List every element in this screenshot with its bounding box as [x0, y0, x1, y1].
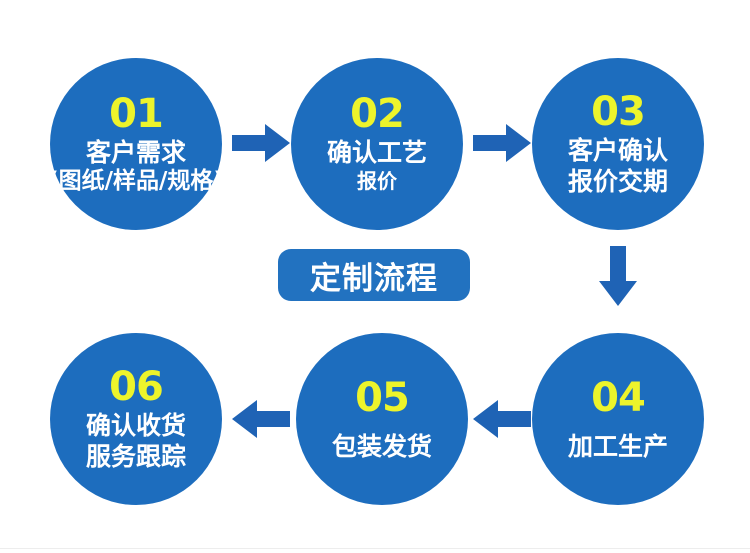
- process-step-01[interactable]: 01 客户需求 (图纸/样品/规格): [50, 58, 222, 230]
- process-step-02[interactable]: 02 确认工艺 报价: [291, 58, 463, 230]
- step-label-line1-04: 加工生产: [568, 432, 668, 461]
- step-number-06: 06: [109, 367, 163, 407]
- flowchart-canvas: 01 客户需求 (图纸/样品/规格) 02 确认工艺 报价 03 客户确认 报价…: [0, 0, 750, 553]
- arrow-left-05-to-06: [232, 400, 290, 438]
- step-label-line2-06: 服务跟踪: [86, 442, 186, 471]
- step-label-group-02: 确认工艺 报价: [327, 138, 427, 193]
- step-number-02: 02: [350, 94, 404, 134]
- process-step-05[interactable]: 05 包装发货: [296, 333, 468, 505]
- step-label-line2-03: 报价交期: [568, 167, 668, 196]
- step-label-group-01: 客户需求 (图纸/样品/规格): [48, 138, 224, 195]
- step-label-group-06: 确认收货 服务跟踪: [86, 411, 186, 471]
- process-step-06[interactable]: 06 确认收货 服务跟踪: [50, 333, 222, 505]
- step-label-group-05: 包装发货: [332, 432, 432, 461]
- step-number-04: 04: [591, 378, 645, 418]
- step-label-line1-02: 确认工艺: [327, 138, 427, 167]
- arrow-left-04-to-05: [473, 400, 531, 438]
- diagram-title-text: 定制流程: [310, 253, 438, 298]
- process-step-04[interactable]: 04 加工生产: [532, 333, 704, 505]
- bottom-divider: [0, 548, 750, 549]
- step-label-group-04: 加工生产: [568, 432, 668, 461]
- step-label-line2-02: 报价: [357, 170, 397, 193]
- step-number-01: 01: [109, 94, 163, 134]
- diagram-title-pill: 定制流程: [278, 249, 470, 301]
- step-label-line1-06: 确认收货: [86, 411, 186, 440]
- step-label-line1-05: 包装发货: [332, 432, 432, 461]
- step-number-05: 05: [355, 378, 409, 418]
- step-number-03: 03: [591, 92, 645, 132]
- step-label-line2-01: (图纸/样品/规格): [48, 168, 224, 195]
- step-label-group-03: 客户确认 报价交期: [568, 136, 668, 196]
- process-step-03[interactable]: 03 客户确认 报价交期: [532, 58, 704, 230]
- arrow-right-02-to-03: [473, 124, 531, 162]
- arrow-down-03-to-04: [599, 246, 637, 306]
- arrow-right-01-to-02: [232, 124, 290, 162]
- step-label-line1-03: 客户确认: [568, 136, 668, 165]
- step-label-line1-01: 客户需求: [86, 138, 186, 167]
